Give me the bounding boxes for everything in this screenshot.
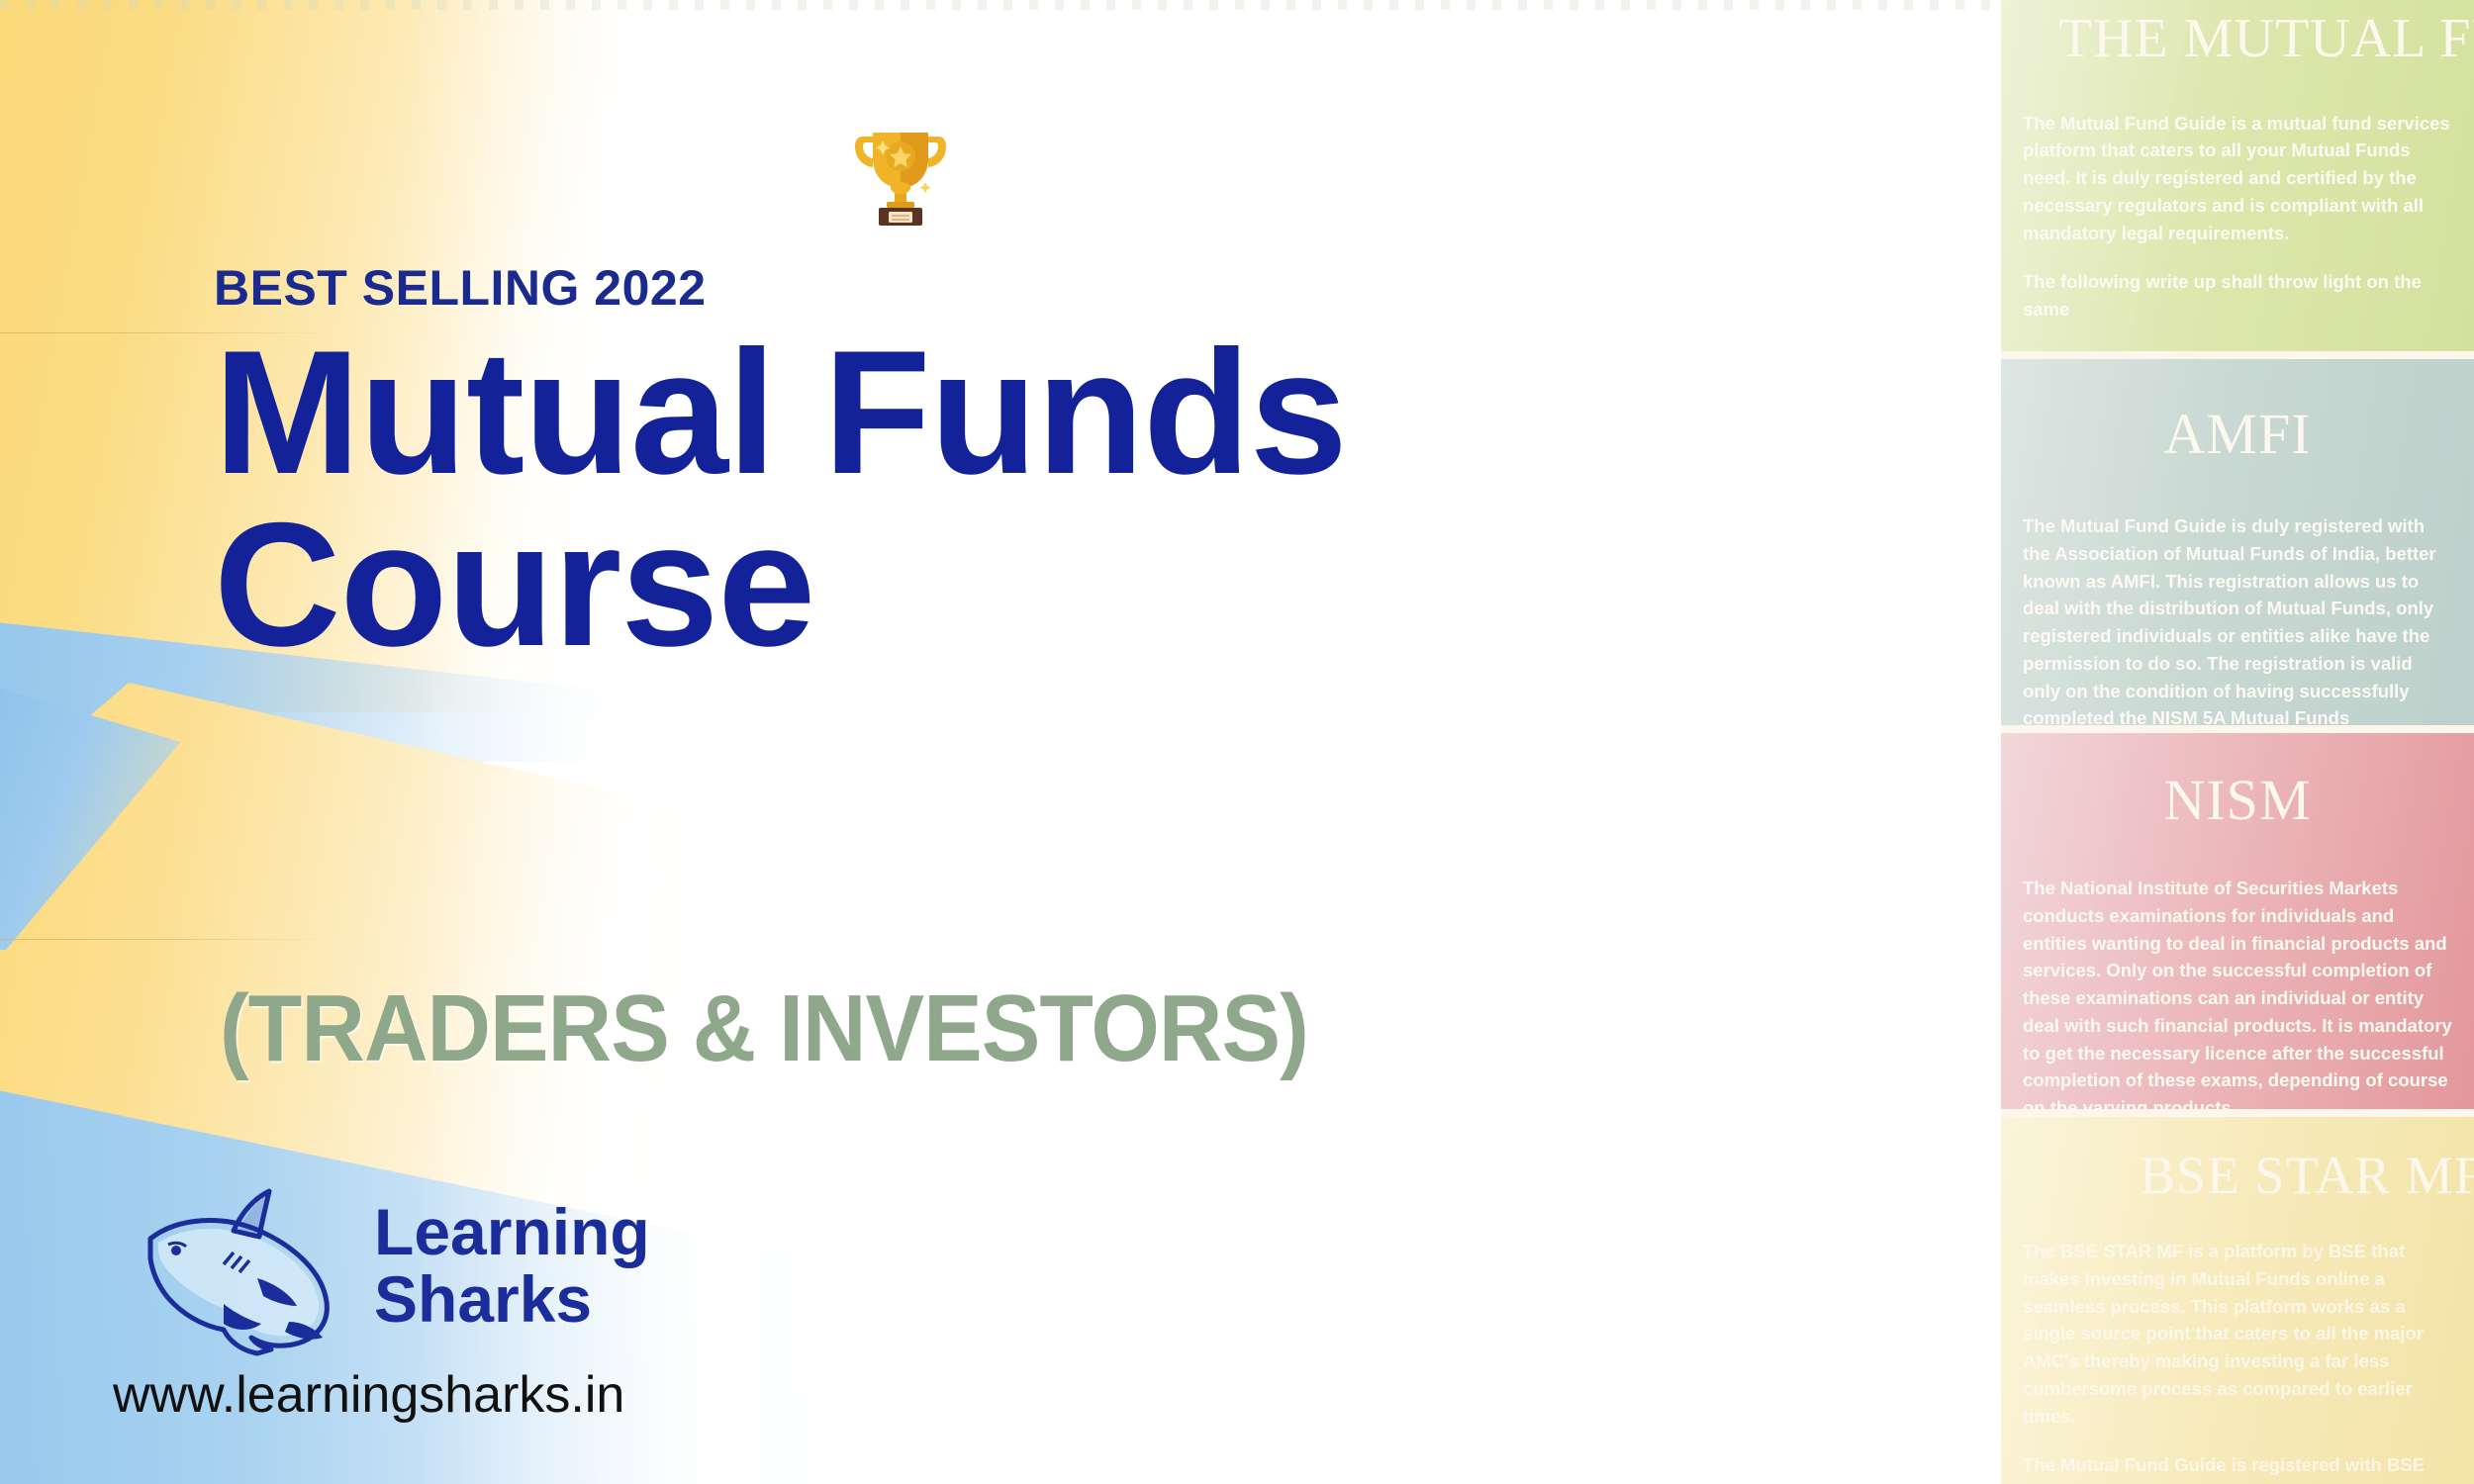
guide-paragraph: The Mutual Fund Guide is registered with… <box>2023 1451 2452 1484</box>
brand-logo[interactable]: Learning Sharks www.learningsharks.in <box>139 1187 752 1425</box>
promo-panel: BEST SELLING 2022 Mutual Funds Course (T… <box>0 0 2001 1484</box>
section-divider <box>2001 1109 2474 1117</box>
slide-canvas: BEST SELLING 2022 Mutual Funds Course (T… <box>0 0 2474 1484</box>
guide-section-body: The Mutual Fund Guide is duly registered… <box>2023 467 2452 725</box>
guide-section-body: The BSE STAR MF is a platform by BSE tha… <box>2023 1206 2452 1484</box>
divider-line-middle <box>0 939 336 940</box>
decor-top-speckle-strip <box>0 0 2001 10</box>
audience-subtitle: (TRADERS & INVESTORS) <box>220 974 1308 1083</box>
guide-section-body: The National Institute of Securities Mar… <box>2023 833 2452 1109</box>
guide-paragraph: The National Institute of Securities Mar… <box>2023 875 2452 1109</box>
guide-paragraph: The Mutual Fund Guide is a mutual fund s… <box>2023 110 2452 247</box>
logo-word-learning: Learning <box>374 1201 650 1263</box>
guide-paragraph: The BSE STAR MF is a platform by BSE tha… <box>2023 1238 2452 1430</box>
section-divider <box>2001 351 2474 359</box>
trophy-icon <box>853 119 948 228</box>
guide-section-amfi: AMFI The Mutual Fund Guide is duly regis… <box>2001 359 2474 725</box>
logo-word-sharks: Sharks <box>374 1268 592 1331</box>
website-url[interactable]: www.learningsharks.in <box>113 1365 624 1425</box>
guide-section-intro: THE MUTUAL FUND GUIDE The Mutual Fund Gu… <box>2001 0 2474 351</box>
guide-section-body: The Mutual Fund Guide is a mutual fund s… <box>2023 70 2452 324</box>
guide-section-nism: NISM The National Institute of Securitie… <box>2001 733 2474 1109</box>
mutual-fund-guide-panel: THE MUTUAL FUND GUIDE The Mutual Fund Gu… <box>2001 0 2474 1484</box>
guide-section-title: NISM <box>2023 733 2452 833</box>
guide-paragraph: The Mutual Fund Guide is duly registered… <box>2023 512 2452 725</box>
guide-section-title: BSE STAR MF <box>2023 1117 2452 1206</box>
shark-logo-icon <box>139 1187 366 1365</box>
guide-paragraph: The following write up shall throw light… <box>2023 268 2452 324</box>
page-title: Mutual Funds Course <box>214 326 1500 672</box>
guide-section-title: THE MUTUAL FUND GUIDE <box>2023 0 2452 70</box>
guide-section-bse: BSE STAR MF The BSE STAR MF is a platfor… <box>2001 1117 2474 1484</box>
eyebrow-text: BEST SELLING 2022 <box>214 259 707 317</box>
section-divider <box>2001 725 2474 733</box>
guide-section-title: AMFI <box>2023 359 2452 467</box>
